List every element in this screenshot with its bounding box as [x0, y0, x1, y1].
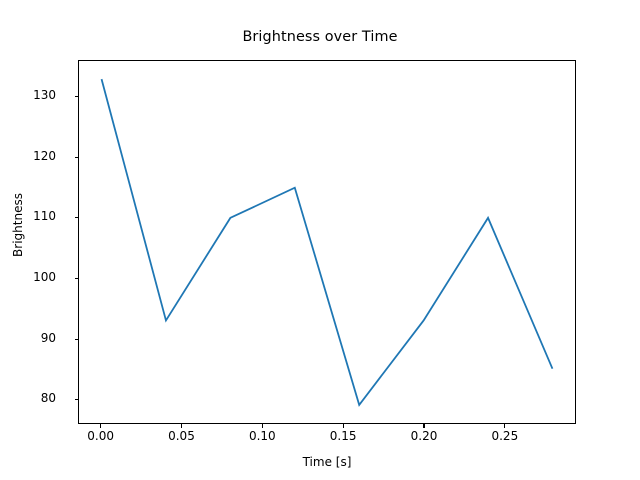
x-axis-tick-label: 0.20 [384, 430, 464, 442]
x-axis-tick-mark [262, 424, 263, 428]
chart-title: Brightness over Time [0, 29, 640, 45]
x-axis-tick-label: 0.25 [465, 430, 545, 442]
x-axis-label: Time [s] [78, 455, 576, 469]
data-line-svg [79, 61, 575, 423]
x-axis-tick-mark [504, 424, 505, 428]
x-axis-tick-mark [100, 424, 101, 428]
x-axis-tick-label: 0.00 [61, 430, 141, 442]
plot-area [78, 60, 576, 424]
x-axis-tick-mark [423, 424, 424, 428]
chart-figure: Brightness over Time Brightness Time [s]… [0, 0, 640, 480]
x-axis-tick-label: 0.10 [222, 430, 302, 442]
x-axis-tick-label: 0.05 [141, 430, 221, 442]
y-axis-tick-label: 110 [33, 210, 56, 222]
y-axis-tick-label: 80 [41, 392, 56, 404]
x-axis-tick-mark [181, 424, 182, 428]
y-axis-tick-label: 120 [33, 150, 56, 162]
brightness-line-series [102, 79, 553, 405]
y-axis-tick-label: 130 [33, 89, 56, 101]
y-axis-tick-label: 90 [41, 332, 56, 344]
x-axis-tick-mark [343, 424, 344, 428]
y-axis-label: Brightness [11, 145, 25, 305]
y-axis-tick-label: 100 [33, 271, 56, 283]
x-axis-tick-label: 0.15 [303, 430, 383, 442]
